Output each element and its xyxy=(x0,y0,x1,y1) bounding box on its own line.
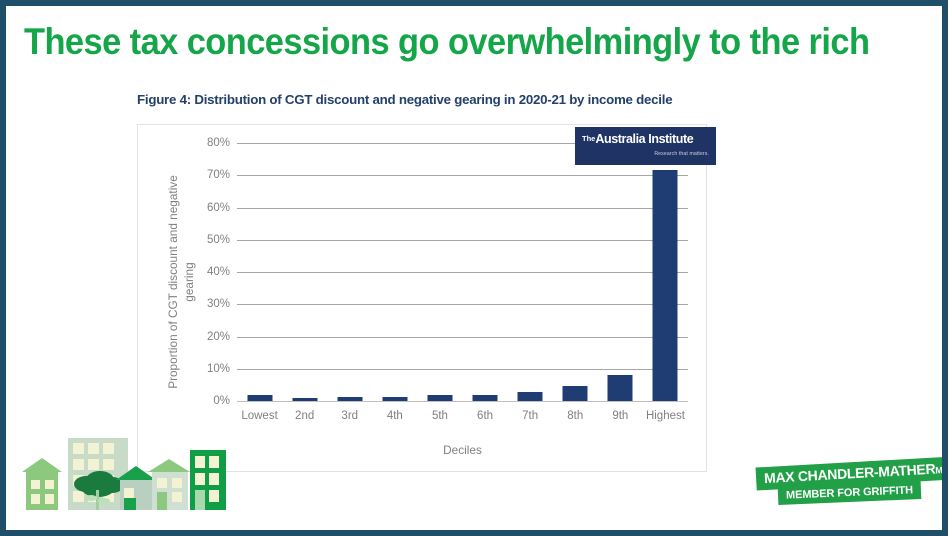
figure-caption: Figure 4: Distribution of CGT discount a… xyxy=(137,92,877,107)
y-axis-tick-label: 0% xyxy=(213,395,230,407)
y-axis-tick-label: 10% xyxy=(207,363,230,375)
slide: These tax concessions go overwhelmingly … xyxy=(0,0,948,536)
logo-prefix: The xyxy=(582,134,595,143)
logo-tagline: Research that matters. xyxy=(582,151,709,157)
y-axis-tick-label: 30% xyxy=(207,298,230,310)
x-axis-tick-label: 3rd xyxy=(341,410,358,422)
x-axis-tick-label: Lowest xyxy=(241,410,277,422)
y-axis-tick-label: 20% xyxy=(207,331,230,343)
x-axis-tick-label: 5th xyxy=(432,410,448,422)
cityscape-illustration xyxy=(12,428,226,524)
bar xyxy=(653,170,678,401)
bar-slot: 5th xyxy=(417,143,462,401)
bar-slot: 2nd xyxy=(282,143,327,401)
bar xyxy=(382,397,407,401)
y-axis-tick-label: 60% xyxy=(207,202,230,214)
x-axis-tick-label: 7th xyxy=(522,410,538,422)
logo-name: TheAustralia Institute xyxy=(582,132,709,146)
y-axis-tick-label: 50% xyxy=(207,234,230,246)
x-axis-tick-label: 9th xyxy=(612,410,628,422)
bar xyxy=(247,395,272,401)
x-axis-tick-label: 2nd xyxy=(295,410,314,422)
bar xyxy=(337,397,362,401)
y-axis-title-line2: gearing xyxy=(178,147,200,417)
bar-slot: 7th xyxy=(508,143,553,401)
x-axis-tick-label: 8th xyxy=(567,410,583,422)
mp-banner: MAX CHANDLER-MATHERMP MEMBER FOR GRIFFIT… xyxy=(756,462,928,508)
bar xyxy=(563,386,588,401)
logo-main-text: Australia Institute xyxy=(595,132,693,146)
bar-slot: Highest xyxy=(643,143,688,401)
bar xyxy=(427,395,452,401)
x-axis-tick-label: 6th xyxy=(477,410,493,422)
y-axis-tick-label: 70% xyxy=(207,169,230,181)
bar-slot: 8th xyxy=(553,143,598,401)
australia-institute-logo: TheAustralia Institute Research that mat… xyxy=(575,127,716,165)
bar-slot: 4th xyxy=(372,143,417,401)
mp-suffix: MP xyxy=(935,465,948,476)
bar xyxy=(473,395,498,401)
chart-container: Proportion of CGT discount and negative … xyxy=(137,124,707,472)
x-axis-tick-label: Highest xyxy=(646,410,685,422)
gridline: 0% xyxy=(237,401,688,402)
plot-area: 80%70%60%50%40%30%20%10%0% Lowest2nd3rd4… xyxy=(237,143,688,401)
bar xyxy=(518,392,543,401)
y-axis-tick-label: 80% xyxy=(207,137,230,149)
bar-slot: 3rd xyxy=(327,143,372,401)
x-axis-title: Deciles xyxy=(237,443,688,457)
cityscape-svg xyxy=(12,428,226,524)
bar-slot: Lowest xyxy=(237,143,282,401)
page-title: These tax concessions go overwhelmingly … xyxy=(24,22,842,62)
bar-slot: 9th xyxy=(598,143,643,401)
bar xyxy=(292,398,317,401)
bar-slot: 6th xyxy=(463,143,508,401)
x-axis-tick-label: 4th xyxy=(387,410,403,422)
y-axis-tick-label: 40% xyxy=(207,266,230,278)
bar-series: Lowest2nd3rd4th5th6th7th8th9thHighest xyxy=(237,143,688,401)
bar xyxy=(608,375,633,401)
